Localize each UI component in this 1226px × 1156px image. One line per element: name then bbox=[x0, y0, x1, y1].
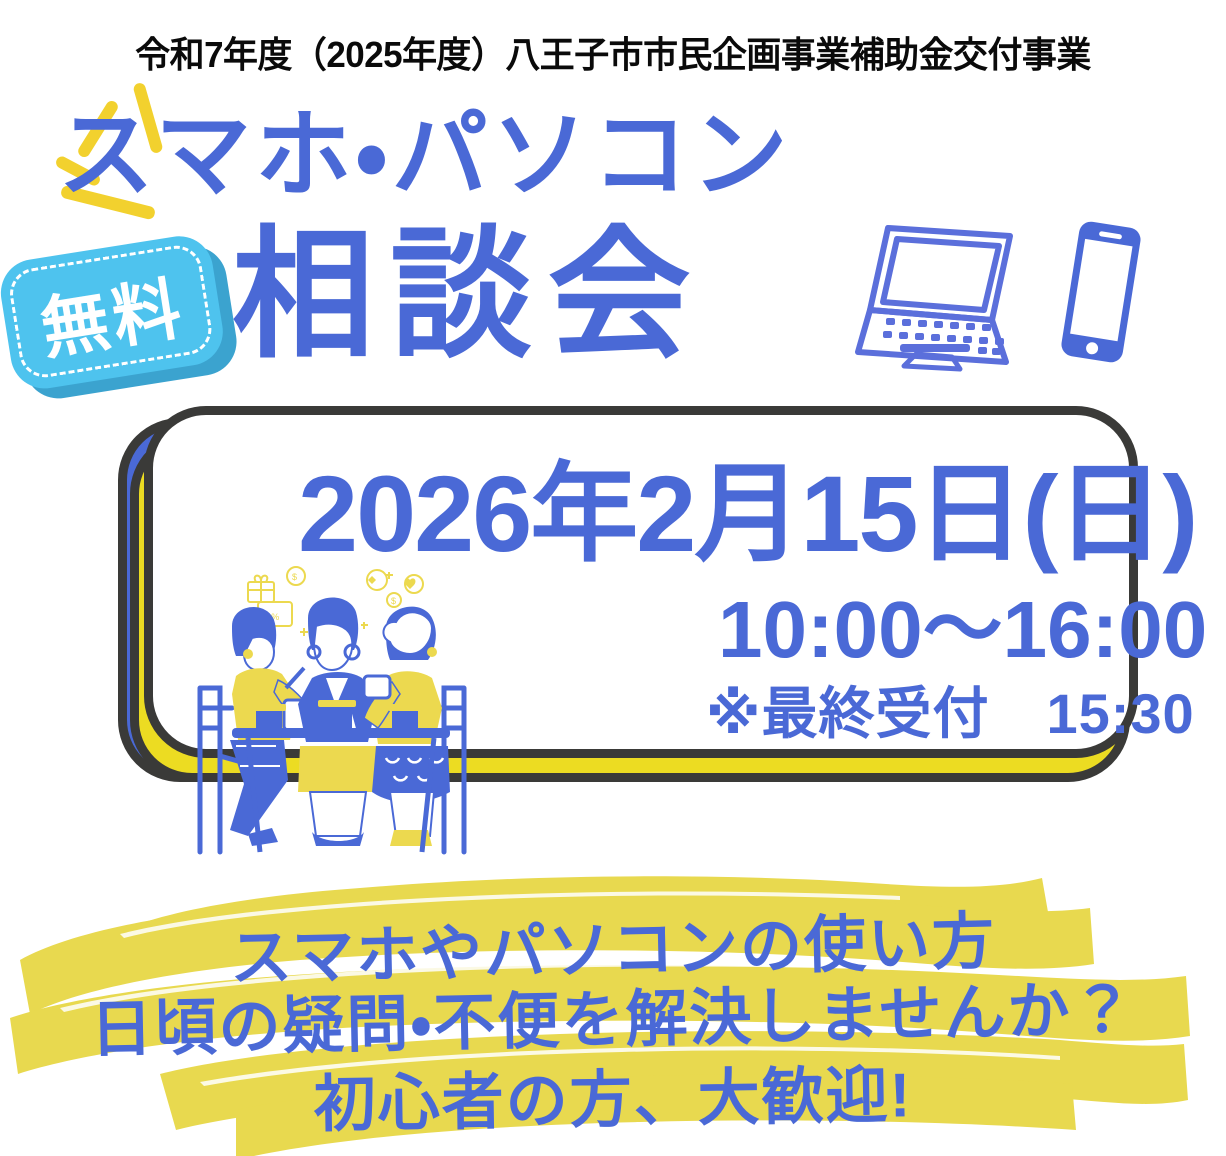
poster-root: 令和7年度（2025年度）八王子市市民企画事業補助金交付事業 スマホ・パソコン … bbox=[0, 0, 1226, 1156]
svg-text:$: $ bbox=[292, 572, 297, 582]
subsidy-header-text: 令和7年度（2025年度）八王子市市民企画事業補助金交付事業 bbox=[18, 26, 1207, 78]
title-line-two: 相談会 bbox=[232, 225, 706, 367]
svg-text:$: $ bbox=[391, 596, 396, 606]
event-date-text: 2026年2月15日(日) bbox=[298, 460, 1196, 568]
bottom-message-group: スマホやパソコンの使い方 日頃の疑問・不便を解決しませんか？ 初心者の方、大歓迎… bbox=[0, 868, 1226, 1156]
title-line-one: スマホ・パソコン bbox=[58, 108, 792, 204]
message-line-three: 初心者の方、大歓迎! bbox=[0, 1060, 1226, 1141]
laptop-icon bbox=[840, 214, 1020, 379]
smartphone-icon bbox=[1046, 212, 1156, 377]
event-time-text: 10:00～16:00 bbox=[718, 590, 1207, 670]
free-badge: 無料 bbox=[0, 229, 246, 409]
last-reception-text: ※最終受付 15:30 bbox=[706, 686, 1195, 742]
three-people-at-table-illustration: $ $ $ +% bbox=[186, 560, 496, 865]
